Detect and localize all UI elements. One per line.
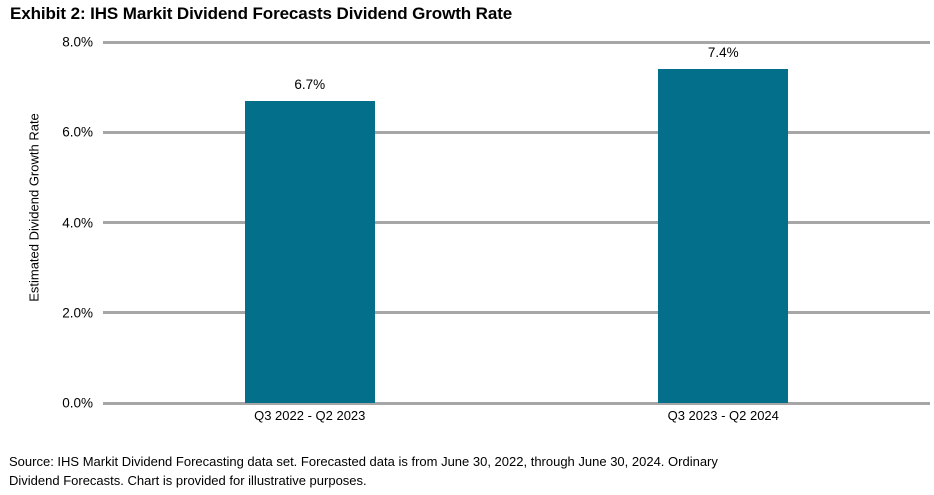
- y-axis-tick-label: 6.0%: [23, 125, 93, 140]
- source-note-line-2: Dividend Forecasts. Chart is provided fo…: [9, 471, 909, 490]
- gridline: [103, 131, 930, 134]
- y-axis-tick-label: 2.0%: [23, 305, 93, 320]
- bar-value-label: 6.7%: [245, 77, 375, 92]
- y-axis-tick-label: 0.0%: [23, 396, 93, 411]
- gridline: [103, 221, 930, 224]
- y-axis-tick-labels: 0.0%2.0%4.0%6.0%8.0%: [23, 42, 93, 403]
- x-axis-tick-label: Q3 2022 - Q2 2023: [254, 408, 365, 423]
- bar-value-label: 7.4%: [658, 45, 788, 60]
- bar[interactable]: [245, 101, 375, 403]
- bar[interactable]: [658, 69, 788, 403]
- plot-area: 6.7%7.4%: [103, 42, 930, 403]
- gridline: [103, 41, 930, 44]
- axis-baseline: [103, 402, 930, 405]
- source-note-line-1: Source: IHS Markit Dividend Forecasting …: [9, 452, 909, 471]
- gridline: [103, 311, 930, 314]
- y-axis-tick-label: 8.0%: [23, 35, 93, 50]
- y-axis-tick-label: 4.0%: [23, 215, 93, 230]
- x-axis-tick-labels: Q3 2022 - Q2 2023Q3 2023 - Q2 2024: [103, 408, 930, 432]
- x-axis-tick-label: Q3 2023 - Q2 2024: [668, 408, 779, 423]
- page-title: Exhibit 2: IHS Markit Dividend Forecasts…: [10, 4, 512, 24]
- bar-chart: Estimated Dividend Growth Rate 0.0%2.0%4…: [0, 30, 934, 445]
- source-note: Source: IHS Markit Dividend Forecasting …: [9, 452, 909, 490]
